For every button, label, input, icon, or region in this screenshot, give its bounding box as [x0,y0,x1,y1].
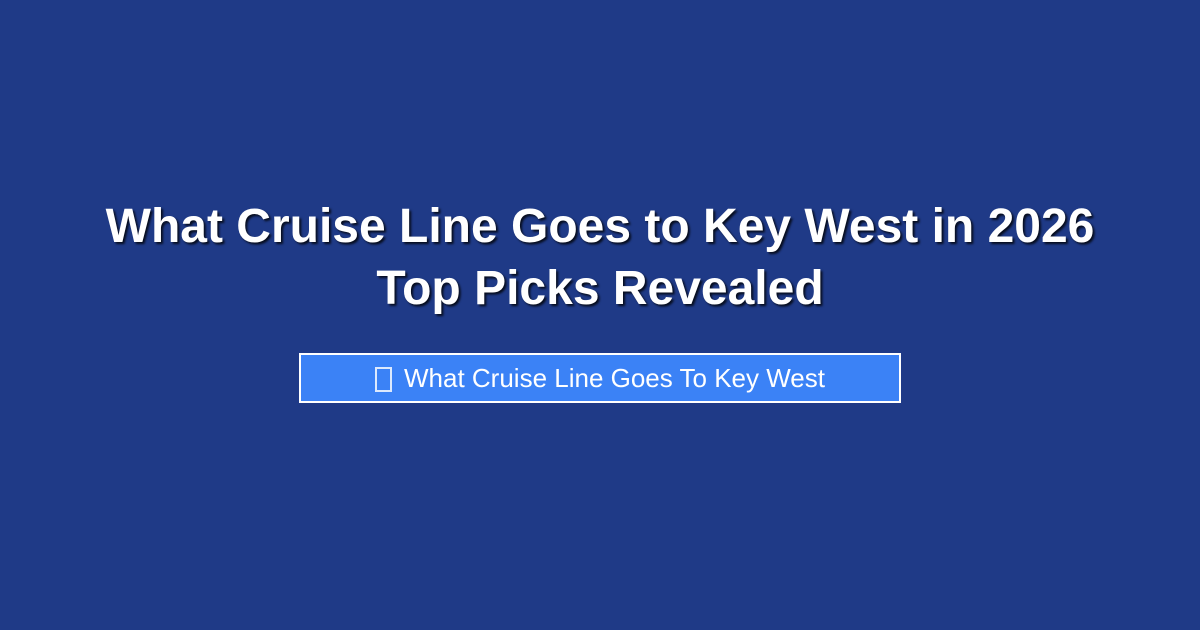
cta-button[interactable]: What Cruise Line Goes To Key West [299,353,901,403]
cta-button-label: What Cruise Line Goes To Key West [404,363,825,393]
content-block: What Cruise Line Goes to Key West in 202… [0,196,1200,403]
cta-container: What Cruise Line Goes To Key West [0,353,1200,403]
social-card-canvas: What Cruise Line Goes to Key West in 202… [0,0,1200,630]
missing-glyph-box-icon [375,367,392,392]
page-title: What Cruise Line Goes to Key West in 202… [75,196,1125,320]
